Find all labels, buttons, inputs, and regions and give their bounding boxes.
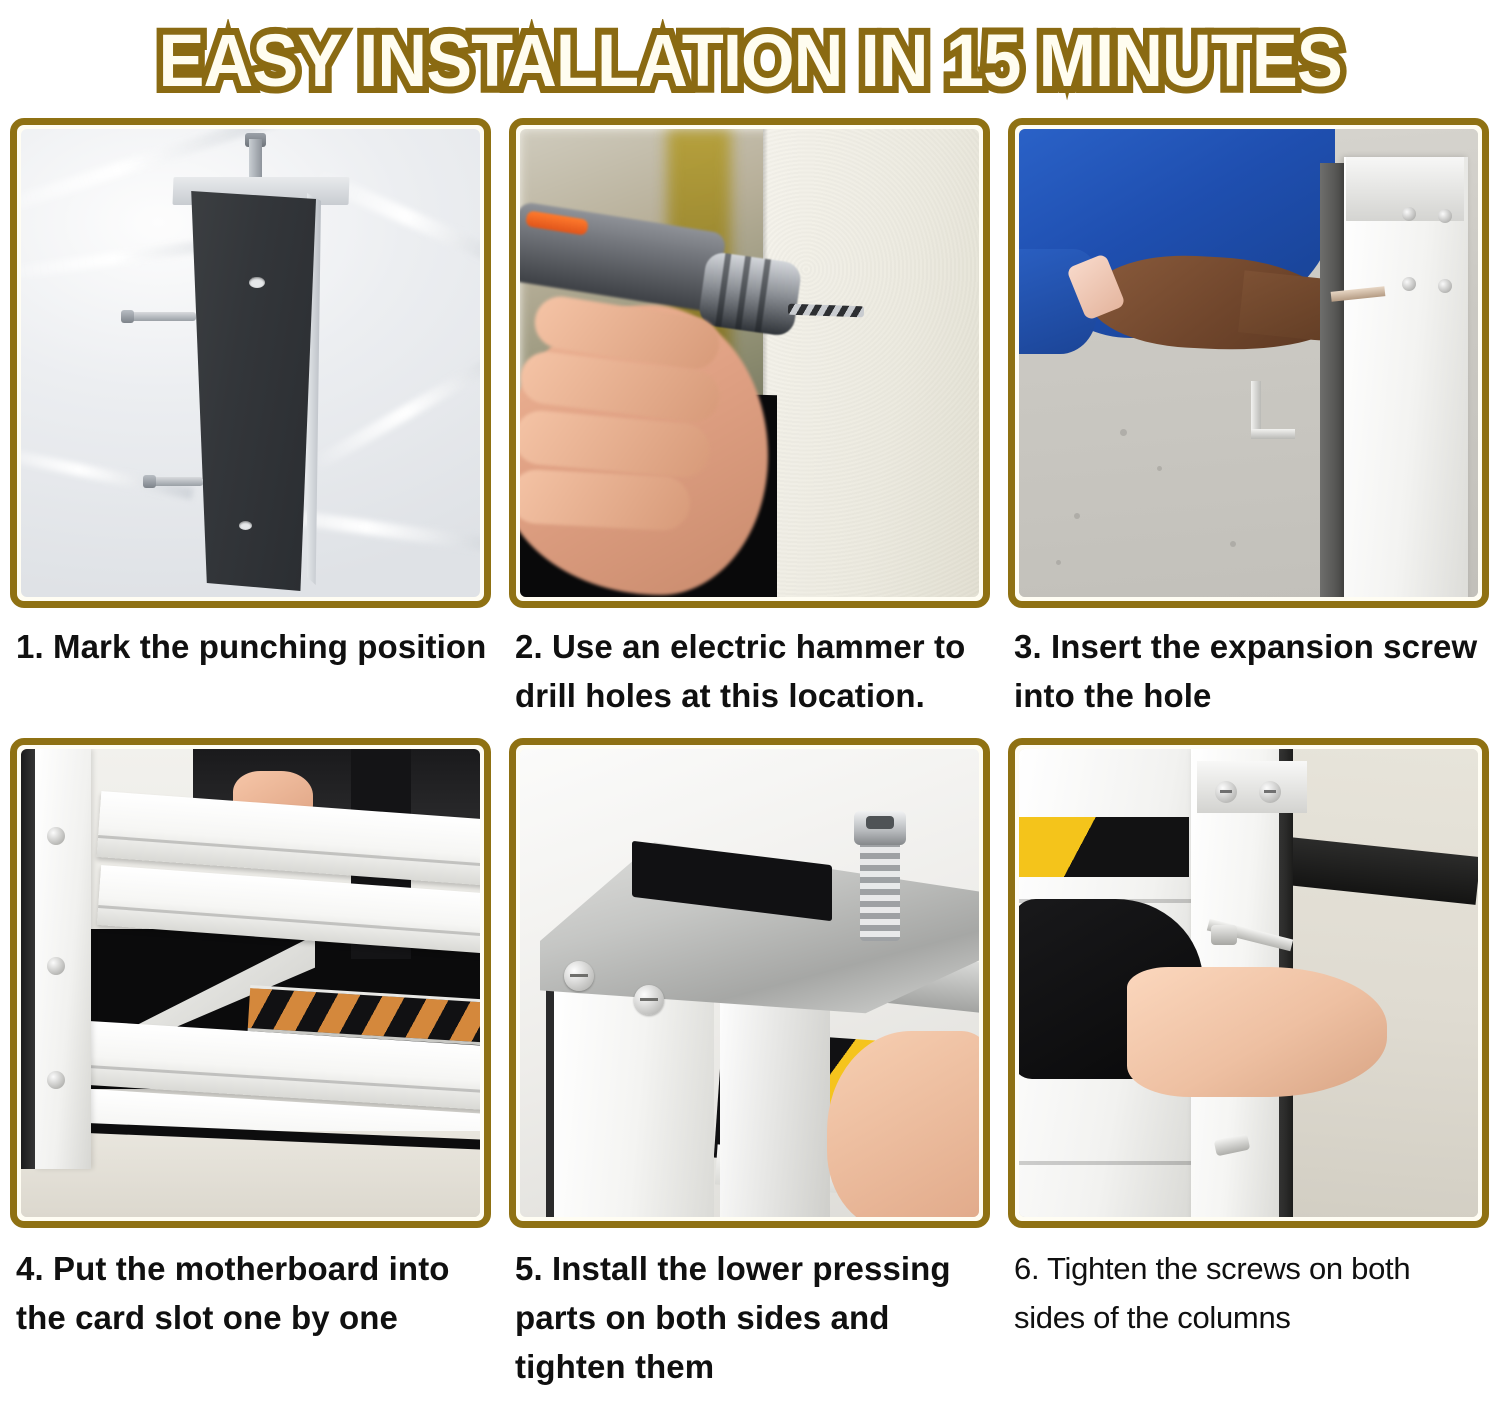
protruding-bolt-upper xyxy=(124,312,196,321)
hand-tightening xyxy=(1127,967,1387,1097)
banner: EASY INSTALLATION IN 15 MINUTES xyxy=(0,0,1500,118)
step-3-photo-frame xyxy=(1008,118,1489,608)
step-1-photo-frame xyxy=(10,118,491,608)
step-6-caption: 6. Tighten the screws on both sides of t… xyxy=(1008,1228,1489,1342)
steps-row-bottom: 4. Put the motherboard into the card slo… xyxy=(10,738,1490,1391)
column-screw xyxy=(1438,209,1452,223)
step-1-caption: 1. Mark the punching position xyxy=(10,608,491,671)
step-card-3: 3. Insert the expansion screw into the h… xyxy=(1008,118,1489,720)
step-4-caption: 4. Put the motherboard into the card slo… xyxy=(10,1228,491,1342)
step-2-caption: 2. Use an electric hammer to drill holes… xyxy=(509,608,990,720)
column-screw xyxy=(1259,781,1281,803)
column-screw xyxy=(1402,277,1416,291)
mark-hole-upper xyxy=(249,277,265,288)
white-column xyxy=(1344,157,1468,597)
bolt-head-lower xyxy=(143,475,156,488)
column-shadow-edge xyxy=(1320,163,1344,597)
finger xyxy=(520,468,691,531)
column-post xyxy=(35,749,91,1169)
post-screw xyxy=(47,827,65,845)
step-4-photo-frame xyxy=(10,738,491,1228)
step-3-photo xyxy=(1019,129,1478,597)
step-5-photo xyxy=(520,749,979,1217)
column-screw xyxy=(1215,781,1237,803)
bolt-head-upper xyxy=(121,310,134,323)
allen-key xyxy=(1251,381,1261,439)
step-5-photo-frame xyxy=(509,738,990,1228)
inner-column xyxy=(720,985,830,1217)
steps-row-top: 1. Mark the punching position xyxy=(10,118,1490,720)
step-card-6: 6. Tighten the screws on both sides of t… xyxy=(1008,738,1489,1342)
textured-wall xyxy=(763,129,979,597)
step-5-caption: 5. Install the lower pressing parts on b… xyxy=(509,1228,990,1391)
step-card-5: 5. Install the lower pressing parts on b… xyxy=(509,738,990,1391)
step-4-photo xyxy=(21,749,480,1217)
mark-hole-lower xyxy=(239,521,252,530)
bolt-head xyxy=(854,811,906,845)
drill-chuck xyxy=(697,251,802,338)
step-1-photo xyxy=(21,129,480,597)
step-3-caption: 3. Insert the expansion screw into the h… xyxy=(1008,608,1489,720)
step-2-photo xyxy=(520,129,979,597)
page-title: EASY INSTALLATION IN 15 MINUTES xyxy=(158,24,1341,98)
column-screw xyxy=(1438,279,1452,293)
column-screw xyxy=(1402,207,1416,221)
post-screw xyxy=(47,1071,65,1089)
screwdriver-head xyxy=(1211,925,1237,945)
bracket-screw xyxy=(634,985,664,1015)
hazard-stripe xyxy=(1019,817,1189,877)
step-card-2: 2. Use an electric hammer to drill holes… xyxy=(509,118,990,720)
step-card-4: 4. Put the motherboard into the card slo… xyxy=(10,738,491,1342)
column-top-bracket xyxy=(1197,761,1307,813)
post-screw xyxy=(47,957,65,975)
step-6-photo-frame xyxy=(1008,738,1489,1228)
steps-grid: 1. Mark the punching position xyxy=(0,118,1500,1391)
column-body xyxy=(186,191,316,591)
step-2-photo-frame xyxy=(509,118,990,608)
panel-seam xyxy=(1019,1161,1195,1165)
bracket-screw xyxy=(564,961,594,991)
step-card-1: 1. Mark the punching position xyxy=(10,118,491,671)
step-6-photo xyxy=(1019,749,1478,1217)
